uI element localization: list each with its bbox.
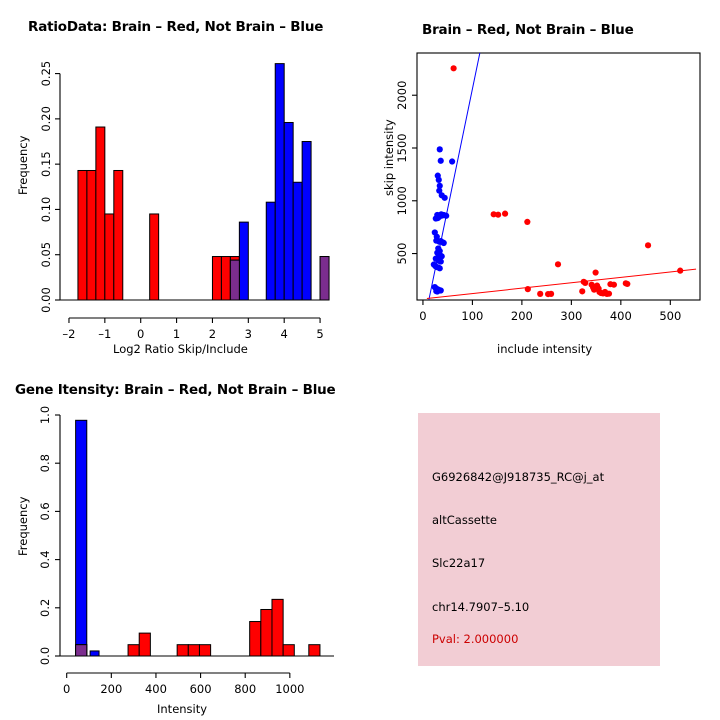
scatter-point <box>449 158 455 164</box>
y-tick-label: 0.4 <box>38 550 52 568</box>
intensity-scatter-plot: 5001000150020000100200300400500 <box>360 0 720 360</box>
intensity-scatter-xlabel: include intensity <box>497 342 592 356</box>
gene-intensity-plot: 0.00.20.40.60.81.002004006008001000 <box>0 360 360 720</box>
scatter-point <box>537 291 543 297</box>
scatter-point <box>606 291 612 297</box>
intensity-scatter-panel: Brain – Red, Not Brain – Blue 5001000150… <box>360 0 720 360</box>
scatter-point <box>442 195 448 201</box>
x-tick-label: 500 <box>659 309 681 323</box>
scatter-point <box>438 158 444 164</box>
histogram-bar <box>293 182 302 300</box>
intensity-scatter-ylabel: skip intensity <box>382 119 396 196</box>
scatter-point <box>548 291 554 297</box>
y-tick-label: 500 <box>395 243 409 265</box>
scatter-point <box>443 213 449 219</box>
scatter-point <box>437 146 443 152</box>
scatter-point <box>502 211 508 217</box>
pval-text: Pval: 2.000000 <box>432 632 518 646</box>
x-tick-label: 200 <box>511 309 533 323</box>
histogram-bar <box>199 645 210 656</box>
scatter-point <box>645 242 651 248</box>
x-tick-label: 4 <box>281 327 288 341</box>
y-tick-label: 1500 <box>395 133 409 162</box>
histogram-bar <box>105 214 114 300</box>
histogram-bar <box>150 214 159 300</box>
scatter-point <box>525 286 531 292</box>
y-tick-label: 1000 <box>395 186 409 215</box>
histogram-bar <box>221 257 230 300</box>
x-tick-label: –2 <box>62 327 75 341</box>
y-tick-label: 2000 <box>395 81 409 110</box>
scatter-point <box>437 265 443 271</box>
histogram-bar <box>139 633 150 656</box>
y-tick-label: 0.25 <box>39 61 53 87</box>
ratio-histogram-ylabel: Frequency <box>16 136 30 195</box>
ratio-histogram-xlabel: Log2 Ratio Skip/Include <box>113 342 248 356</box>
y-tick-label: 0.10 <box>39 197 53 223</box>
x-tick-label: 400 <box>610 309 632 323</box>
ratio-histogram-plot: 0.000.050.100.150.200.25–2–1012345 <box>0 0 360 360</box>
gene-intensity-panel: Gene Itensity: Brain – Red, Not Brain – … <box>0 360 360 720</box>
scatter-point <box>555 261 561 267</box>
x-tick-label: 600 <box>190 682 212 696</box>
x-tick-label: 200 <box>100 682 122 696</box>
histogram-bar <box>188 645 199 656</box>
histogram-bar <box>309 645 320 656</box>
scatter-point <box>435 215 441 221</box>
scatter-point <box>434 288 440 294</box>
histogram-bar <box>284 122 293 300</box>
scatter-point <box>524 219 530 225</box>
histogram-bar <box>96 127 105 300</box>
histogram-bar <box>177 645 188 656</box>
scatter-point <box>579 288 585 294</box>
histogram-bar <box>283 645 294 656</box>
y-tick-label: 0.0 <box>38 647 52 665</box>
x-tick-label: 3 <box>245 327 252 341</box>
histogram-bar <box>275 64 284 300</box>
scatter-point <box>611 282 617 288</box>
x-tick-label: 0 <box>63 682 70 696</box>
histogram-bar <box>128 645 139 656</box>
y-tick-label: 0.6 <box>38 502 52 520</box>
histogram-bar <box>239 222 248 300</box>
x-tick-label: 800 <box>234 682 256 696</box>
histogram-bar <box>114 170 123 300</box>
histogram-bar <box>320 257 329 300</box>
histogram-bar <box>230 260 239 300</box>
x-tick-label: 2 <box>209 327 216 341</box>
gene-info-box <box>418 413 660 666</box>
x-tick-label: 100 <box>461 309 483 323</box>
y-tick-label: 1.0 <box>38 406 52 424</box>
x-tick-label: 1 <box>173 327 180 341</box>
histogram-bar <box>76 420 87 656</box>
x-tick-label: 0 <box>419 309 426 323</box>
event-type-text: altCassette <box>432 513 497 527</box>
ratio-histogram-panel: RatioData: Brain – Red, Not Brain – Blue… <box>0 0 360 360</box>
scatter-point <box>582 280 588 286</box>
scatter-point <box>624 281 630 287</box>
x-tick-label: 5 <box>316 327 323 341</box>
y-tick-label: 0.15 <box>39 151 53 177</box>
histogram-bar <box>212 257 221 300</box>
scatter-point <box>677 268 683 274</box>
histogram-bar <box>250 622 261 656</box>
scatter-point <box>495 212 501 218</box>
histogram-bar <box>78 170 87 300</box>
scatter-point <box>438 258 444 264</box>
scatter-point <box>441 240 447 246</box>
y-tick-label: 0.05 <box>39 242 53 268</box>
x-tick-label: 300 <box>560 309 582 323</box>
histogram-bar <box>87 170 96 300</box>
gene-symbol-text: Slc22a17 <box>432 556 485 570</box>
histogram-bar <box>302 142 311 300</box>
histogram-bar <box>90 651 99 656</box>
histogram-bar <box>272 599 283 656</box>
histogram-bar <box>261 609 272 656</box>
histogram-bar <box>76 645 87 656</box>
x-tick-label: –1 <box>98 327 111 341</box>
x-tick-label: 400 <box>145 682 167 696</box>
gene-info-panel: G6926842@J918735_RC@j_at altCassette Slc… <box>360 360 720 720</box>
histogram-bar <box>266 202 275 300</box>
scatter-point <box>593 269 599 275</box>
x-tick-label: 1000 <box>275 682 304 696</box>
gene-intensity-ylabel: Frequency <box>16 497 30 556</box>
locus-text: chr14.7907–5.10 <box>432 600 529 614</box>
y-tick-label: 0.00 <box>39 287 53 313</box>
y-tick-label: 0.2 <box>38 599 52 617</box>
probe-id-text: G6926842@J918735_RC@j_at <box>432 470 604 484</box>
y-tick-label: 0.8 <box>38 454 52 472</box>
x-tick-label: 0 <box>137 327 144 341</box>
regression-line <box>427 269 696 298</box>
scatter-point <box>436 177 442 183</box>
y-tick-label: 0.20 <box>39 106 53 132</box>
gene-intensity-xlabel: Intensity <box>157 702 207 716</box>
scatter-point <box>451 65 457 71</box>
